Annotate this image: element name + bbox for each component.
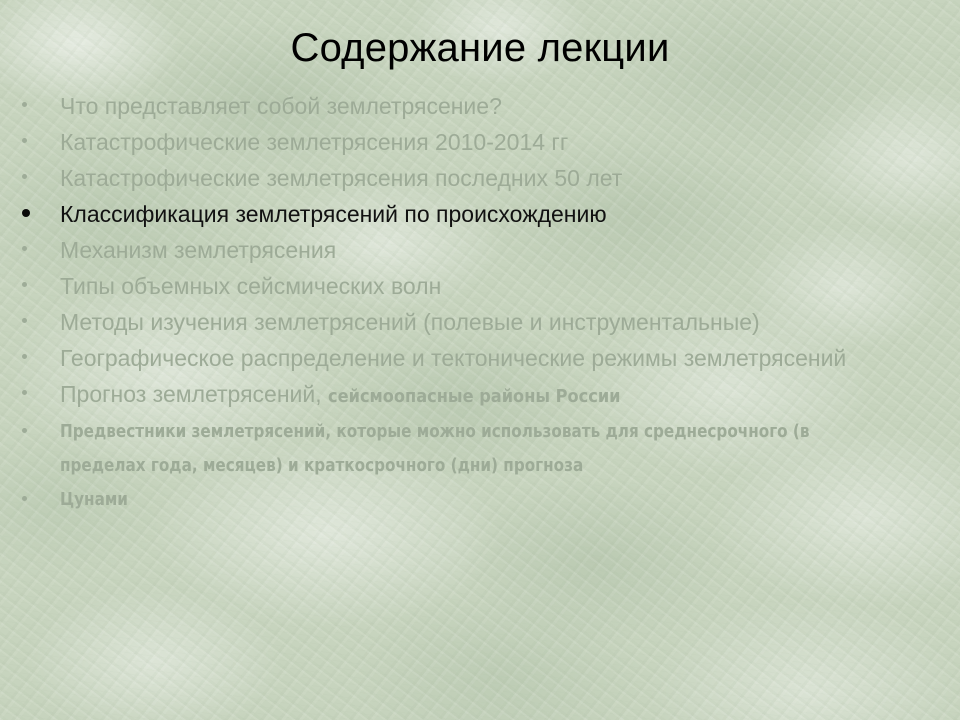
list-item-earthquake-mechanism[interactable]: Механизм землетрясения: [14, 232, 934, 268]
list-item-label: Катастрофические землетрясения последних…: [60, 160, 934, 196]
bullet-dot-icon: [22, 102, 27, 107]
bullet-dot-icon: [22, 209, 30, 217]
bullet-dot-icon: [22, 496, 27, 501]
list-item-label: Прогноз землетрясений, сейсмоопасные рай…: [60, 376, 934, 415]
bullet-dot-icon: [22, 318, 27, 323]
list-item-catastrophic-last-50-years[interactable]: Катастрофические землетрясения последних…: [14, 160, 934, 196]
list-item-body-wave-types[interactable]: Типы объемных сейсмических волн: [14, 268, 934, 304]
bullet-dot-icon: [22, 246, 27, 251]
list-item-label: Механизм землетрясения: [60, 232, 934, 268]
presentation-slide: Содержание лекции Что представляет собой…: [0, 0, 960, 720]
list-item-label-main: Прогноз землетрясений,: [60, 381, 328, 407]
list-item-label: Что представляет собой землетрясение?: [60, 88, 934, 124]
list-item-label: Катастрофические землетрясения 2010-2014…: [60, 124, 934, 160]
bullet-dot-icon: [22, 428, 27, 433]
agenda-list: Что представляет собой землетрясение? Ка…: [14, 88, 934, 517]
list-item-study-methods[interactable]: Методы изучения землетрясений (полевые и…: [14, 304, 934, 340]
bullet-dot-icon: [22, 282, 27, 287]
bullet-dot-icon: [22, 354, 27, 359]
list-item-label-emphasis: сейсмоопасные районы России: [328, 386, 621, 407]
list-item-label: Типы объемных сейсмических волн: [60, 268, 934, 304]
bullet-dot-icon: [22, 390, 27, 395]
list-item-what-is-earthquake[interactable]: Что представляет собой землетрясение?: [14, 88, 934, 124]
list-item-geographic-distribution[interactable]: Географическое распределение и тектониче…: [14, 340, 934, 376]
list-item-tsunami[interactable]: Цунами: [14, 483, 934, 517]
list-item-label: Цунами: [60, 483, 882, 517]
list-item-label: Методы изучения землетрясений (полевые и…: [60, 304, 934, 340]
bullet-dot-icon: [22, 138, 27, 143]
slide-title: Содержание лекции: [60, 22, 900, 74]
list-item-label: Предвестники землетрясений, которые можн…: [60, 415, 882, 483]
list-item-label: Классификация землетрясений по происхожд…: [60, 196, 934, 232]
list-item-forecast-and-seismic-zones[interactable]: Прогноз землетрясений, сейсмоопасные рай…: [14, 376, 934, 415]
list-item-label: Географическое распределение и тектониче…: [60, 340, 934, 376]
list-item-catastrophic-2010-2014[interactable]: Катастрофические землетрясения 2010-2014…: [14, 124, 934, 160]
list-item-classification-by-origin[interactable]: Классификация землетрясений по происхожд…: [14, 196, 934, 232]
list-item-precursors[interactable]: Предвестники землетрясений, которые можн…: [14, 415, 934, 483]
bullet-dot-icon: [22, 174, 27, 179]
